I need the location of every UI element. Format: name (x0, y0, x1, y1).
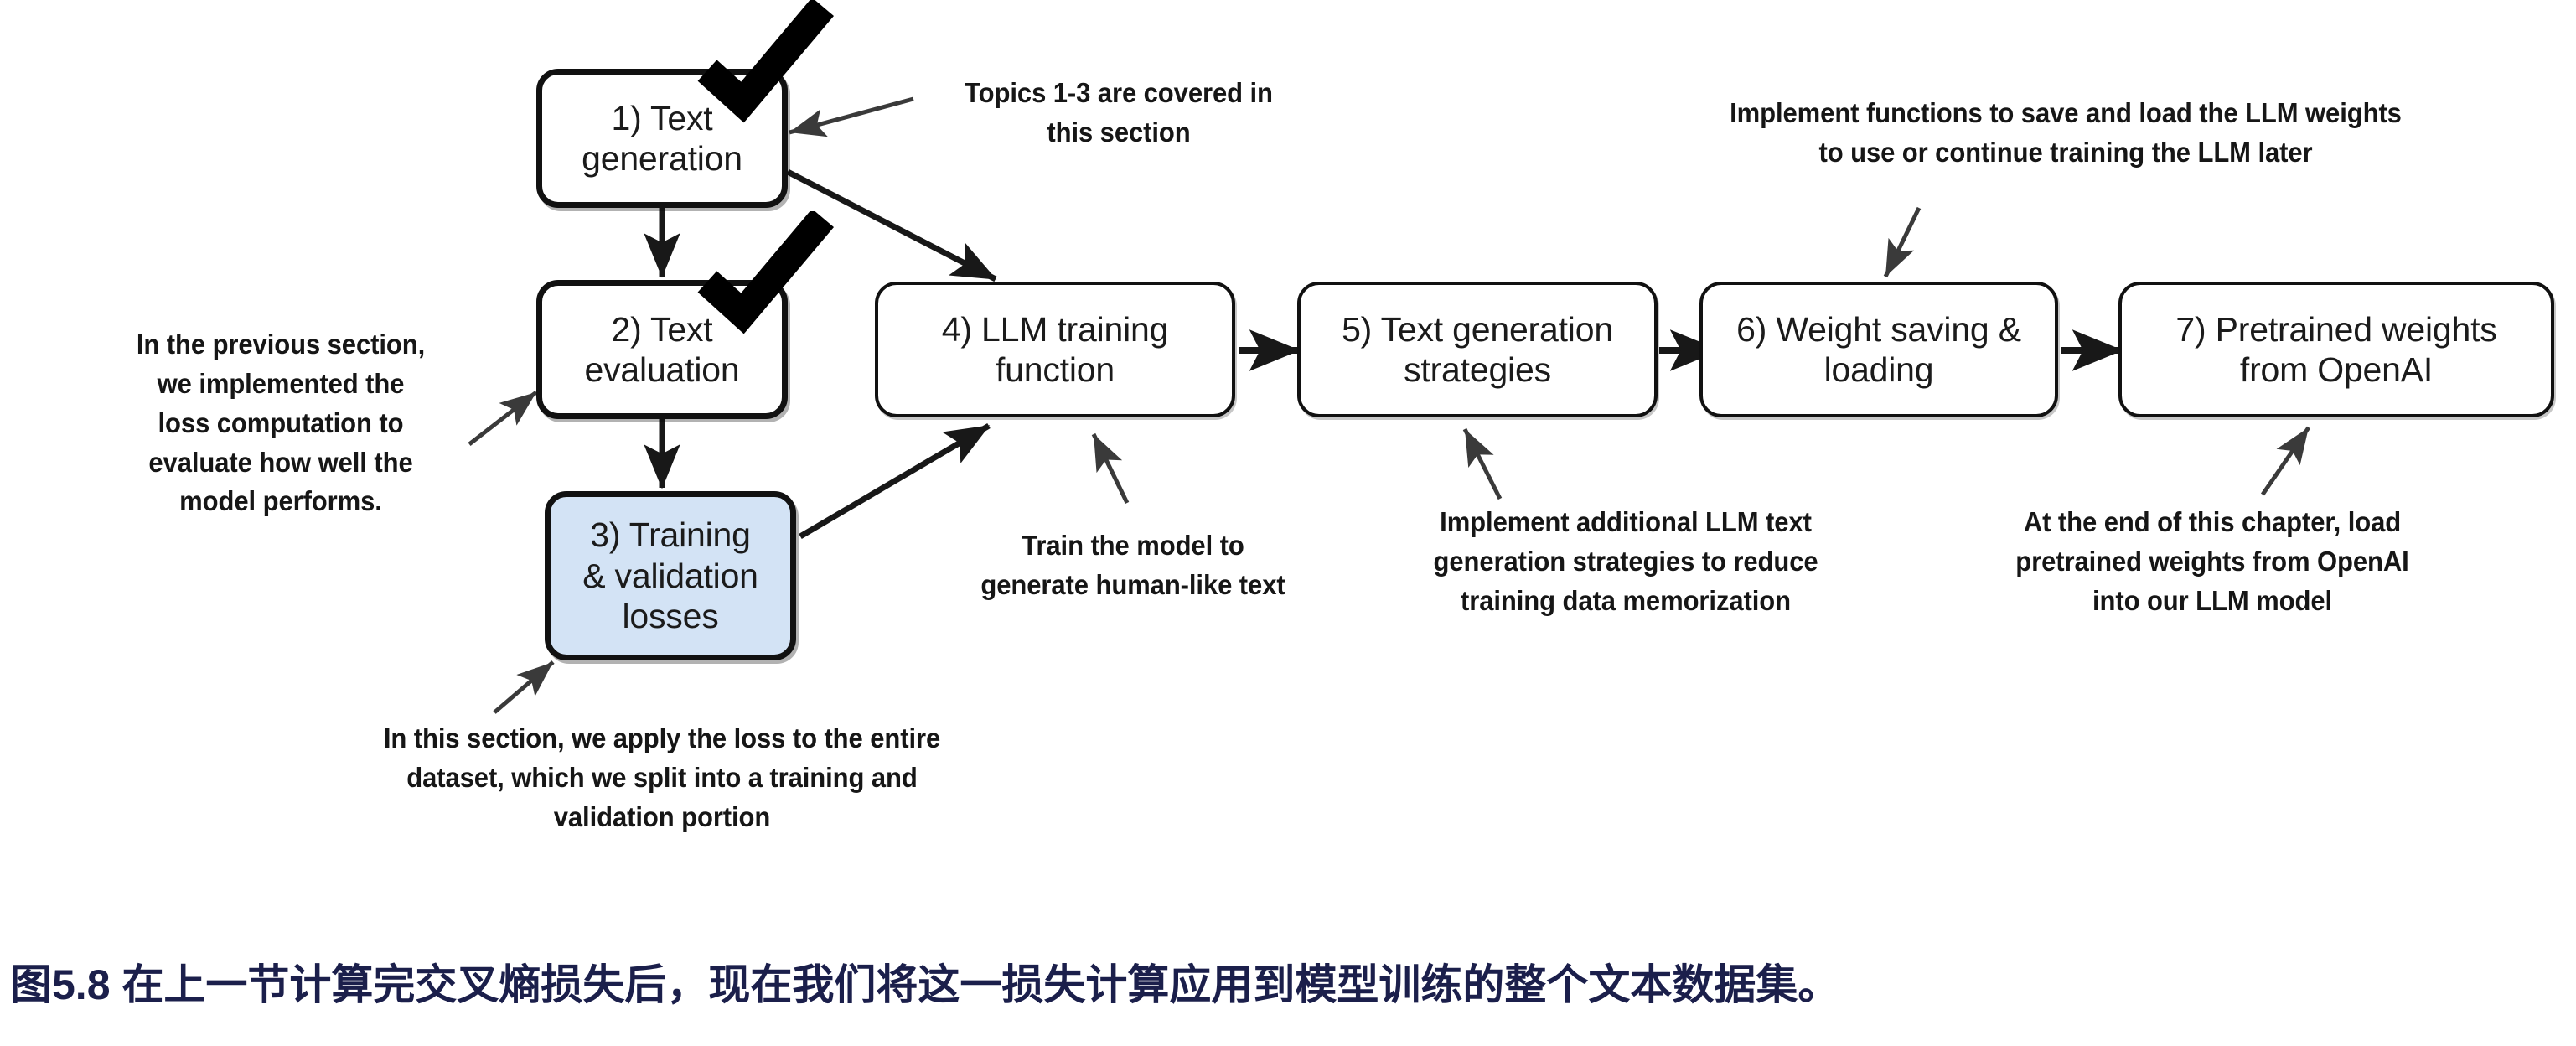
node-4-label: 4) LLM training function (934, 309, 1177, 391)
leader-previous-to-box2 (469, 392, 536, 444)
node-llm-training-function[interactable]: 4) LLM training function (875, 282, 1235, 417)
annotation-train-model: Train the model to generate human-like t… (928, 526, 1338, 605)
node-text-generation[interactable]: 1) Text generation (536, 69, 788, 208)
node-pretrained-weights-openai[interactable]: 7) Pretrained weights from OpenAI (2118, 282, 2554, 417)
annotation-save-load-weights: Implement functions to save and load the… (1668, 94, 2463, 173)
annotation-pretrained-weights: At the end of this chapter, load pretrai… (1968, 503, 2457, 621)
node-6-label: 6) Weight saving & loading (1728, 309, 2030, 391)
node-text-evaluation[interactable]: 2) Text evaluation (536, 280, 788, 419)
node-2-label: 2) Text evaluation (577, 309, 748, 391)
annotation-generation-strategies: Implement additional LLM text generation… (1382, 503, 1870, 621)
node-5-label: 5) Text generation strategies (1333, 309, 1622, 391)
node-weight-saving-loading[interactable]: 6) Weight saving & loading (1699, 282, 2058, 417)
leader-topics-to-box1 (789, 99, 913, 132)
leader-strategies-to-box5 (1465, 429, 1500, 499)
arrow-3-to-4 (800, 426, 989, 536)
leader-this-section-to-box3 (494, 662, 553, 712)
node-training-validation-losses[interactable]: 3) Training & validation losses (545, 491, 796, 660)
figure-canvas: 1) Text generation 2) Text evaluation 3)… (0, 0, 2576, 1046)
annotation-this-section: In this section, we apply the loss to th… (331, 719, 993, 837)
leader-pretrained-to-box7 (2263, 427, 2309, 495)
annotation-topics-covered: Topics 1-3 are covered in this section (934, 74, 1304, 153)
node-7-label: 7) Pretrained weights from OpenAI (2167, 309, 2505, 391)
annotation-previous-section: In the previous section, we implemented … (104, 325, 458, 521)
arrow-1-to-4 (788, 172, 996, 279)
leader-save-load-to-box6 (1885, 208, 1919, 277)
node-text-generation-strategies[interactable]: 5) Text generation strategies (1297, 282, 1658, 417)
node-3-label: 3) Training & validation losses (574, 515, 767, 636)
leader-train-model-to-box4 (1094, 434, 1127, 503)
figure-caption: 图5.8 在上一节计算完交叉熵损失后，现在我们将这一损失计算应用到模型训练的整个… (10, 962, 2566, 1008)
node-1-label: 1) Text generation (573, 98, 751, 179)
